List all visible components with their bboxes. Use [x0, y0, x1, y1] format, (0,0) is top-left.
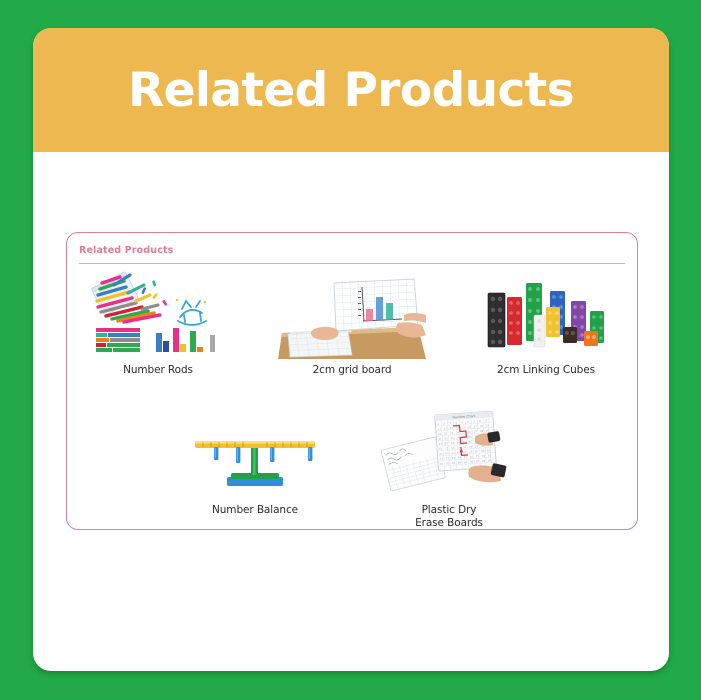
svg-text:46: 46: [469, 440, 473, 444]
svg-text:89: 89: [488, 458, 492, 462]
number-rods-image[interactable]: [84, 271, 232, 359]
svg-text:41: 41: [439, 442, 443, 446]
product-item-linking-cubes[interactable]: 2cm Linking Cubes: [471, 271, 621, 377]
page-title: Related Products: [128, 67, 574, 114]
svg-text:73: 73: [452, 456, 456, 460]
svg-text:67: 67: [475, 449, 479, 453]
svg-text:18: 18: [479, 424, 483, 428]
product-label: Number Rods: [123, 364, 193, 377]
svg-text:52: 52: [445, 446, 449, 450]
svg-text:61: 61: [439, 452, 443, 456]
svg-text:54: 54: [457, 445, 461, 449]
svg-text:23: 23: [450, 431, 454, 435]
grid-board-image[interactable]: [278, 271, 426, 359]
svg-text:68: 68: [481, 449, 485, 453]
svg-text:71: 71: [440, 457, 444, 461]
product-label: 2cm grid board: [313, 364, 392, 377]
svg-text:53: 53: [451, 446, 455, 450]
related-products-legend-label: Related Products: [79, 245, 173, 256]
svg-text:22: 22: [444, 431, 448, 435]
svg-text:27: 27: [474, 429, 478, 433]
svg-text:11: 11: [438, 427, 442, 431]
svg-text:32: 32: [444, 436, 448, 440]
svg-text:55: 55: [463, 445, 467, 449]
svg-text:44: 44: [457, 440, 461, 444]
svg-text:42: 42: [445, 441, 449, 445]
svg-text:88: 88: [482, 459, 486, 463]
svg-text:21: 21: [438, 432, 442, 436]
svg-text:12: 12: [444, 426, 448, 430]
svg-text:15: 15: [461, 425, 465, 429]
product-label-line2: Erase Boards: [415, 517, 483, 529]
svg-text:34: 34: [456, 435, 460, 439]
svg-text:33: 33: [450, 436, 454, 440]
svg-text:84: 84: [458, 460, 462, 464]
product-item-number-balance[interactable]: Number Balance: [180, 411, 330, 530]
linking-cubes-image[interactable]: [472, 271, 620, 359]
svg-text:79: 79: [488, 453, 492, 457]
svg-text:86: 86: [470, 460, 474, 464]
svg-text:63: 63: [451, 451, 455, 455]
svg-text:51: 51: [439, 447, 443, 451]
svg-text:74: 74: [458, 455, 462, 459]
svg-text:72: 72: [446, 456, 450, 460]
svg-text:66: 66: [469, 450, 473, 454]
svg-text:62: 62: [445, 451, 449, 455]
product-item-grid-board[interactable]: 2cm grid board: [277, 271, 427, 377]
svg-text:13: 13: [450, 426, 454, 430]
product-card: Related Products Related Products: [33, 28, 669, 671]
svg-text:82: 82: [446, 461, 450, 465]
svg-text:87: 87: [476, 459, 480, 463]
svg-text:36: 36: [468, 435, 472, 439]
product-label-line1: Plastic Dry: [422, 504, 477, 516]
svg-text:65: 65: [463, 450, 467, 454]
product-row-top: Number Rods: [67, 271, 637, 377]
number-balance-image[interactable]: [181, 411, 329, 499]
svg-text:24: 24: [456, 430, 460, 434]
svg-text:77: 77: [476, 454, 480, 458]
svg-text:83: 83: [452, 461, 456, 465]
svg-text:43: 43: [451, 441, 455, 445]
product-label: 2cm Linking Cubes: [497, 364, 595, 377]
product-item-dry-erase-boards[interactable]: Number Chart: [374, 411, 524, 530]
svg-text:26: 26: [468, 430, 472, 434]
product-label: Plastic Dry Erase Boards: [415, 504, 483, 530]
related-products-panel: Related Products: [66, 232, 638, 530]
svg-text:17: 17: [473, 424, 477, 428]
product-label: Number Balance: [212, 504, 298, 517]
svg-text:19: 19: [485, 423, 489, 427]
svg-text:57: 57: [475, 444, 479, 448]
svg-text:16: 16: [467, 425, 471, 429]
svg-text:85: 85: [464, 460, 468, 464]
svg-text:81: 81: [440, 462, 444, 466]
product-row-bottom: Number Balance: [67, 411, 637, 530]
related-products-legend: Related Products: [79, 240, 625, 264]
dry-erase-boards-image[interactable]: Number Chart: [375, 411, 523, 499]
svg-text:78: 78: [482, 454, 486, 458]
svg-text:76: 76: [470, 455, 474, 459]
svg-text:28: 28: [480, 429, 484, 433]
product-item-number-rods[interactable]: Number Rods: [83, 271, 233, 377]
svg-text:69: 69: [487, 448, 491, 452]
svg-text:31: 31: [438, 437, 442, 441]
svg-text:56: 56: [469, 445, 473, 449]
card-header: Related Products: [33, 28, 669, 152]
svg-text:29: 29: [486, 428, 490, 432]
